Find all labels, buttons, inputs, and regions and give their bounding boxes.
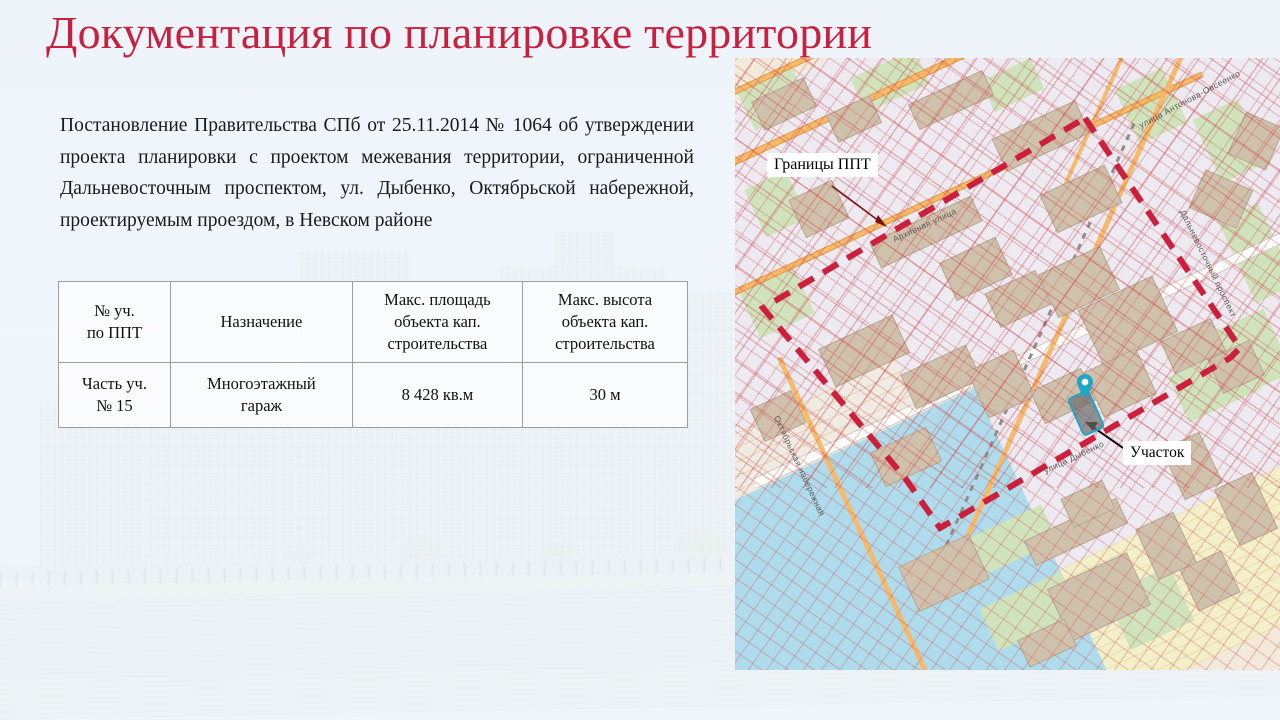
- slide-root: улица Антонова-Овсеенко Дальневосточный …: [0, 0, 1280, 720]
- th-line: по ППТ: [87, 323, 142, 342]
- cell-purpose: Многоэтажный гараж: [171, 363, 353, 428]
- th-line: Макс. площадь: [384, 290, 490, 309]
- map-canvas: улица Антонова-Овсеенко Дальневосточный …: [735, 58, 1280, 670]
- cell-line: Многоэтажный: [207, 374, 316, 393]
- th-max-area: Макс. площадь объекта кап. строительства: [352, 282, 522, 363]
- th-purpose: Назначение: [171, 282, 353, 363]
- map-panel[interactable]: улица Антонова-Овсеенко Дальневосточный …: [735, 58, 1280, 670]
- cell-plot-number: Часть уч. № 15: [59, 363, 171, 428]
- table-header: № уч. по ППТ Назначение Макс. площадь об…: [59, 282, 688, 363]
- cell-line: гараж: [241, 396, 282, 415]
- ppt-leader-line: [832, 186, 883, 224]
- th-line: объекта кап.: [394, 312, 481, 331]
- callout-ppt-boundary: Границы ППТ: [767, 153, 878, 177]
- th-line: Назначение: [220, 312, 302, 331]
- th-line: строительства: [555, 334, 655, 353]
- cell-line: Часть уч.: [82, 374, 147, 393]
- th-line: строительства: [388, 334, 488, 353]
- th-max-height: Макс. высота объекта кап. строительства: [523, 282, 688, 363]
- table-body: Часть уч. № 15 Многоэтажный гараж 8 428 …: [59, 363, 688, 428]
- page-title: Документация по планировке территории: [46, 4, 1146, 62]
- th-plot-number: № уч. по ППТ: [59, 282, 171, 363]
- ppt-leader-arrowhead: [875, 215, 887, 227]
- th-line: объекта кап.: [562, 312, 649, 331]
- callout-uchastok: Участок: [1123, 441, 1191, 465]
- plot-parameters-table: № уч. по ППТ Назначение Макс. площадь об…: [58, 281, 688, 428]
- cell-line: № 15: [96, 396, 132, 415]
- th-line: № уч.: [94, 301, 135, 320]
- ppt-boundary-polygon: [763, 118, 1240, 528]
- th-line: Макс. высота: [558, 290, 652, 309]
- table-row: Часть уч. № 15 Многоэтажный гараж 8 428 …: [59, 363, 688, 428]
- table-header-row: № уч. по ППТ Назначение Макс. площадь об…: [59, 282, 688, 363]
- map-pin-icon[interactable]: [1076, 374, 1094, 398]
- ppt-boundary-layer: [735, 58, 1280, 670]
- cell-max-area: 8 428 кв.м: [352, 363, 522, 428]
- cell-max-height: 30 м: [523, 363, 688, 428]
- decree-paragraph: Постановление Правительства СПб от 25.11…: [60, 110, 694, 236]
